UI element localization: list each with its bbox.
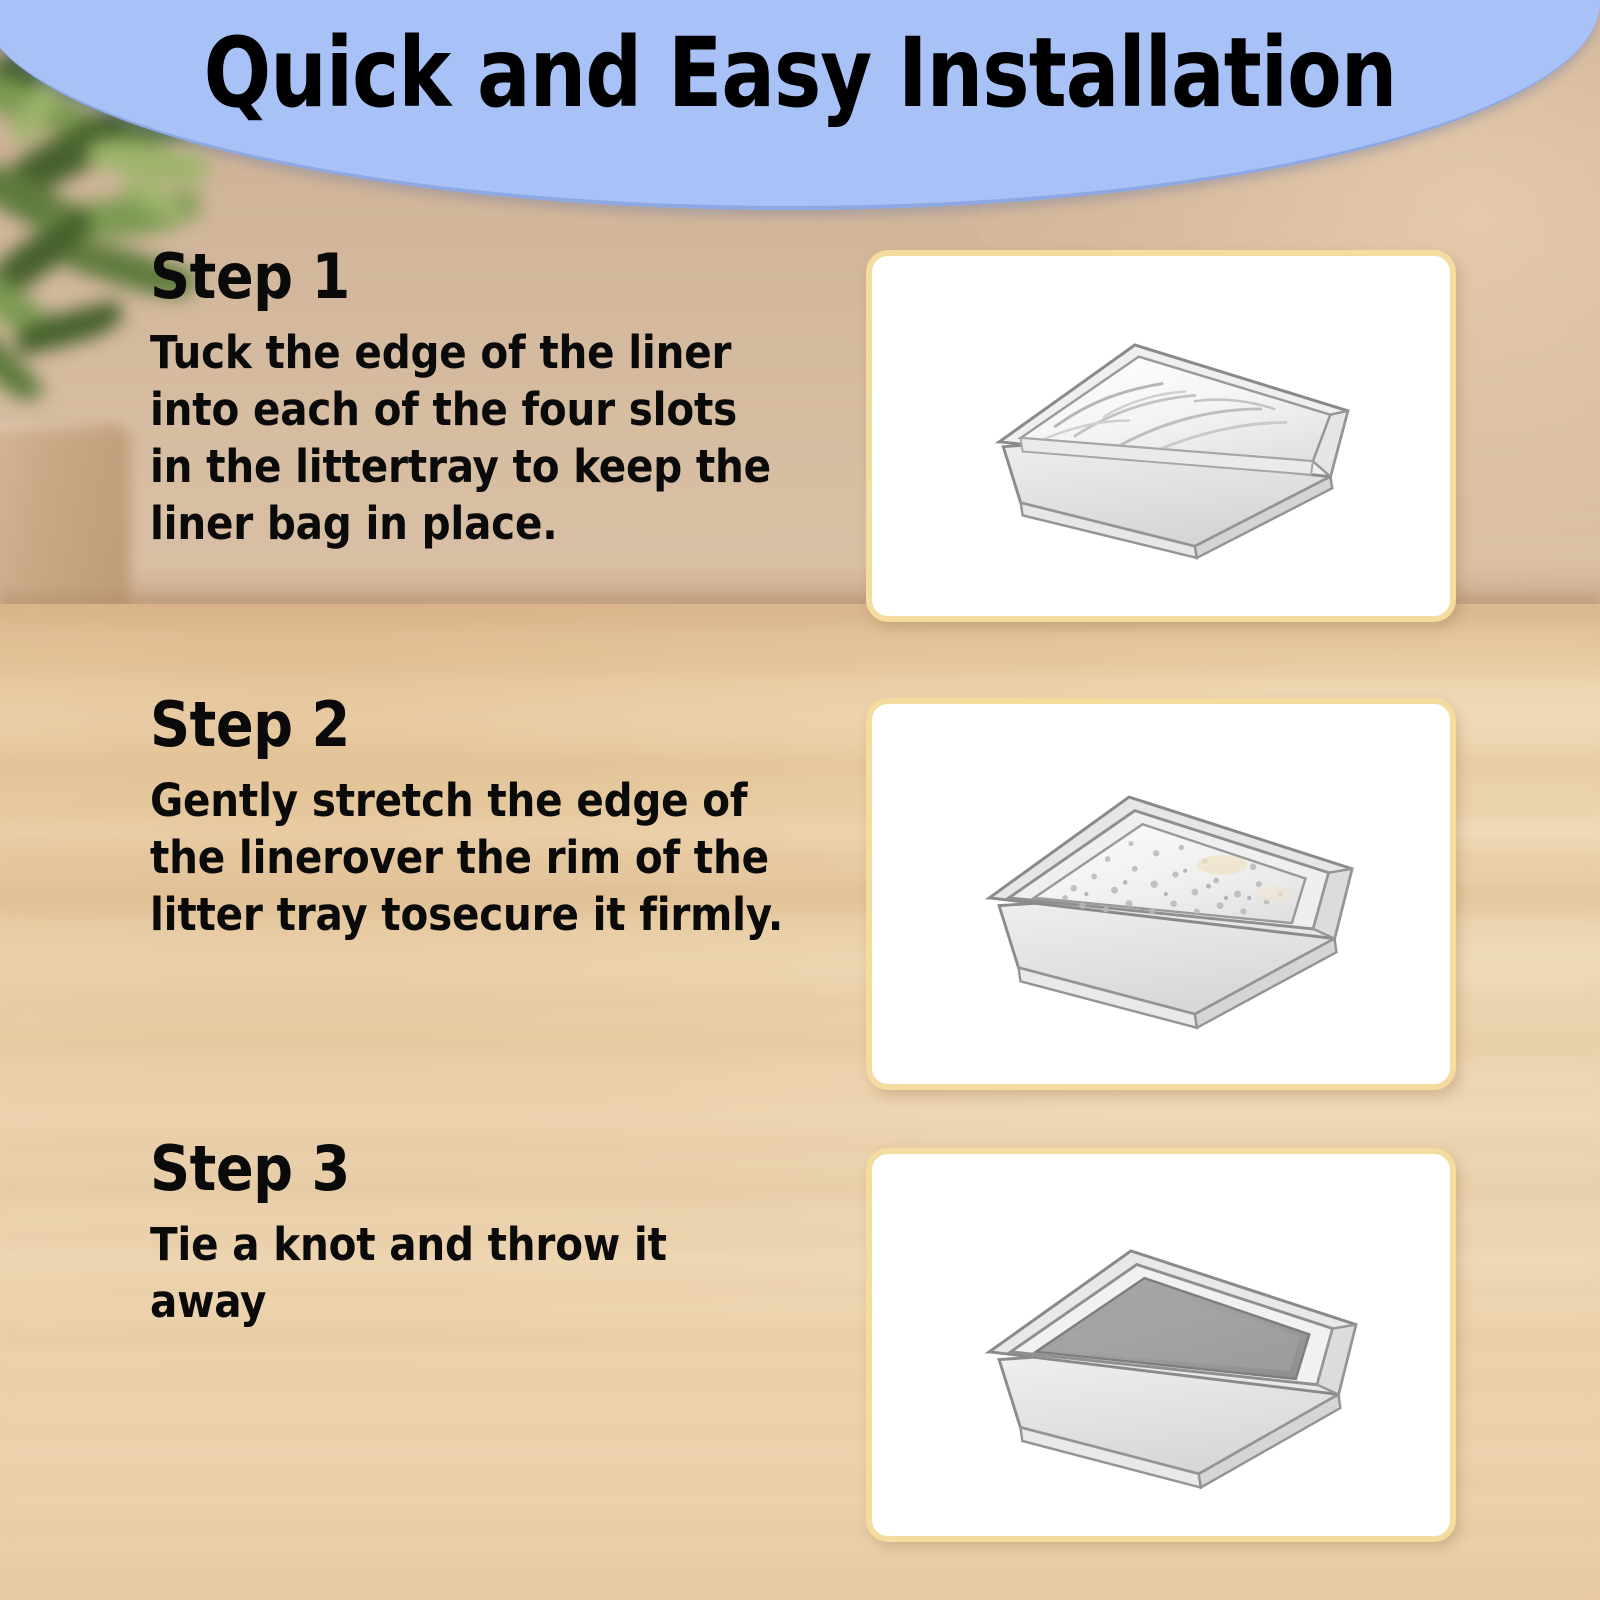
step-3-heading: Step 3 <box>150 1136 830 1202</box>
step-2-body: Gently stretch the edge of the linerover… <box>150 772 830 943</box>
step-2-text-block: Step 2 Gently stretch the edge of the li… <box>150 692 830 943</box>
litter-tray-with-filled-grey-liner-icon <box>872 1154 1450 1536</box>
infographic-scene: Quick and Easy Installation Step 1 Tuck … <box>0 0 1600 1600</box>
step-2-heading: Step 2 <box>150 692 830 758</box>
step-3-text-block: Step 3 Tie a knot and throw it away <box>150 1136 830 1330</box>
page-title: Quick and Easy Installation <box>64 18 1536 128</box>
step-1-heading: Step 1 <box>150 244 830 310</box>
litter-tray-with-crumpled-liner-icon <box>872 256 1450 616</box>
step-1-body: Tuck the edge of the liner into each of … <box>150 324 830 552</box>
step-3-image-card <box>866 1148 1456 1542</box>
step-3-body: Tie a knot and throw it away <box>150 1216 830 1330</box>
step-1-text-block: Step 1 Tuck the edge of the liner into e… <box>150 244 830 552</box>
step-2-image-card <box>866 698 1456 1090</box>
litter-tray-with-liner-over-rim-icon <box>872 704 1450 1084</box>
step-1-image-card <box>866 250 1456 622</box>
